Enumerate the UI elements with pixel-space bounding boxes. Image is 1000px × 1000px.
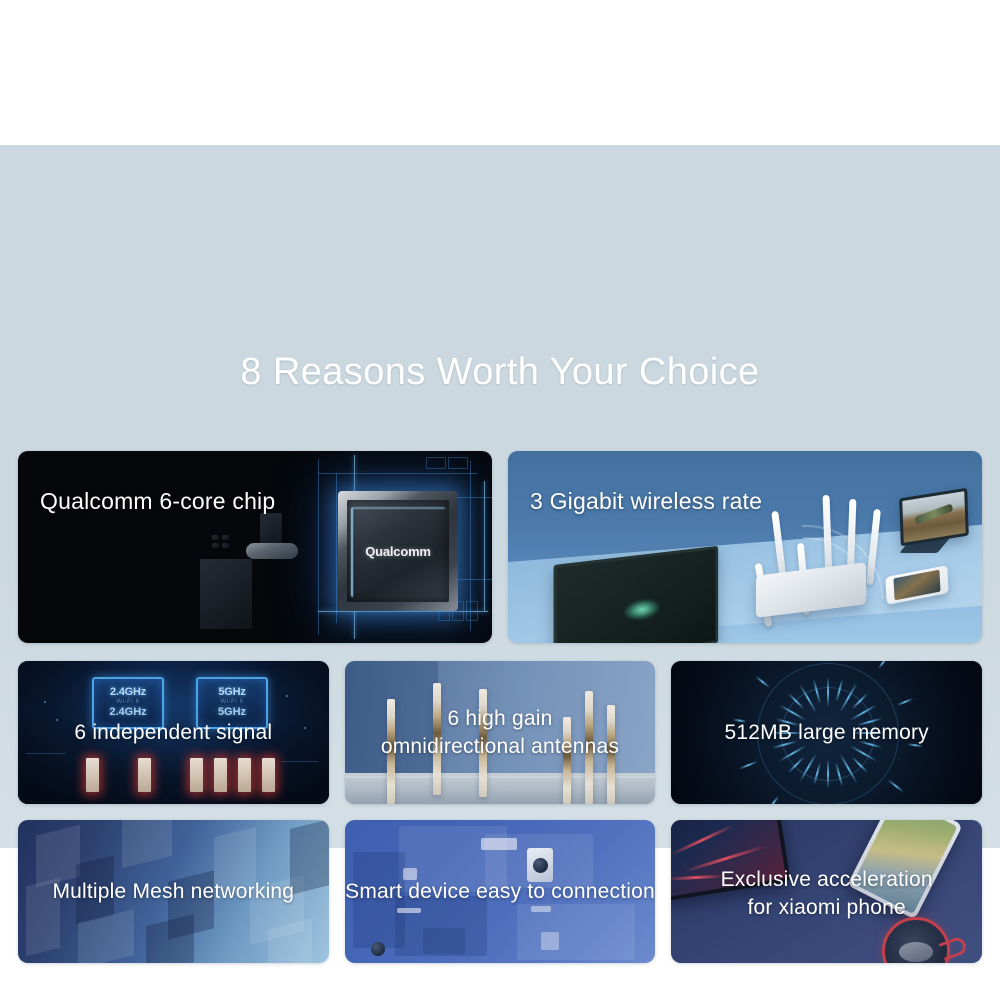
product-feature-page: 8 Reasons Worth Your Choice xyxy=(0,0,1000,1000)
feature-row-1: Qualcomm Qualcomm 6-core chip xyxy=(18,451,982,643)
card-label-qualcomm-chip: Qualcomm 6-core chip xyxy=(40,487,275,515)
feature-card-gigabit-rate[interactable]: 3 Gigabit wireless rate xyxy=(508,451,982,643)
chip-band-label: 2.4GHz xyxy=(94,686,162,698)
chip-band-label-2: 2.4GHz xyxy=(94,706,162,718)
card-label-mesh-networking: Multiple Mesh networking xyxy=(18,878,329,906)
feature-row-2: 2.4GHz Wi-Fi 6 2.4GHz 5GHz Wi-Fi 6 5GHz xyxy=(18,661,982,804)
chip-band-label-2: 5GHz xyxy=(198,706,266,718)
qualcomm-chip-die: Qualcomm xyxy=(338,491,458,611)
feature-card-exclusive-acceleration[interactable]: Exclusive acceleration for xiaomi phone xyxy=(671,820,982,963)
router-scene-image xyxy=(508,451,982,643)
feature-card-qualcomm-chip[interactable]: Qualcomm Qualcomm 6-core chip xyxy=(18,451,492,643)
card-label-high-gain-antennas: 6 high gain omnidirectional antennas xyxy=(345,705,656,761)
feature-row-3: Multiple Mesh networking xyxy=(18,820,982,963)
card-label-exclusive-acceleration: Exclusive acceleration for xiaomi phone xyxy=(671,866,982,922)
card-label-independent-signal: 6 independent signal xyxy=(18,719,329,747)
card-label-gigabit-rate: 3 Gigabit wireless rate xyxy=(530,487,762,515)
qualcomm-chip-image: Qualcomm xyxy=(18,451,492,643)
feature-card-grid: Qualcomm Qualcomm 6-core chip xyxy=(18,451,982,963)
chip-wifi-label: Wi-Fi 6 xyxy=(94,699,162,705)
chip-band-label: 5GHz xyxy=(198,686,266,698)
feature-card-high-gain-antennas[interactable]: 6 high gain omnidirectional antennas xyxy=(345,661,656,804)
feature-panel: 8 Reasons Worth Your Choice xyxy=(0,145,1000,848)
feature-card-mesh-networking[interactable]: Multiple Mesh networking xyxy=(18,820,329,963)
cup-object xyxy=(882,917,950,963)
feature-card-smart-device[interactable]: Smart device easy to connection xyxy=(345,820,656,963)
card-label-smart-device: Smart device easy to connection xyxy=(345,878,656,906)
feature-card-independent-signal[interactable]: 2.4GHz Wi-Fi 6 2.4GHz 5GHz Wi-Fi 6 5GHz xyxy=(18,661,329,804)
card-label-large-memory: 512MB large memory xyxy=(671,719,982,747)
chip-wifi-label: Wi-Fi 6 xyxy=(198,699,266,705)
feature-card-large-memory[interactable]: 512MB large memory xyxy=(671,661,982,804)
page-title: 8 Reasons Worth Your Choice xyxy=(0,344,1000,400)
